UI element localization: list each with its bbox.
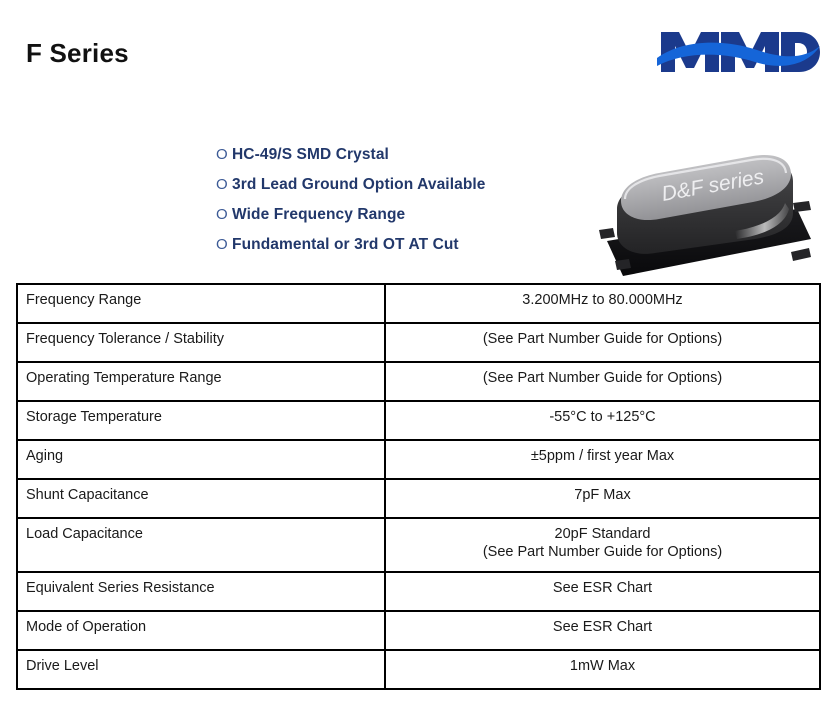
mmd-logo: [657, 24, 820, 80]
specification-table: Frequency Range 3.200MHz to 80.000MHz Fr…: [16, 283, 821, 690]
bullet-marker-icon: O: [216, 146, 232, 163]
feature-item: O Wide Frequency Range: [216, 206, 546, 236]
feature-label: Fundamental or 3rd OT AT Cut: [232, 236, 459, 254]
spec-value: 20pF Standard (See Part Number Guide for…: [385, 518, 820, 572]
spec-parameter: Shunt Capacitance: [17, 479, 385, 518]
spec-value-line: 7pF Max: [394, 486, 811, 504]
spec-parameter: Equivalent Series Resistance: [17, 572, 385, 611]
spec-value-line: (See Part Number Guide for Options): [394, 543, 811, 561]
spec-value-line: (See Part Number Guide for Options): [394, 330, 811, 348]
table-row: Drive Level 1mW Max: [17, 650, 820, 689]
spec-value-line: -55°C to +125°C: [394, 408, 811, 426]
hc49s-smd-crystal-photo: D&F series: [585, 135, 825, 280]
feature-item: O 3rd Lead Ground Option Available: [216, 176, 546, 206]
feature-label: 3rd Lead Ground Option Available: [232, 176, 486, 194]
spec-parameter: Aging: [17, 440, 385, 479]
bullet-marker-icon: O: [216, 236, 232, 253]
lead-tab: [599, 228, 615, 239]
spec-parameter: Operating Temperature Range: [17, 362, 385, 401]
table-row: Aging ±5ppm / first year Max: [17, 440, 820, 479]
spec-value-line: See ESR Chart: [394, 618, 811, 636]
spec-value: See ESR Chart: [385, 572, 820, 611]
table-row: Mode of Operation See ESR Chart: [17, 611, 820, 650]
lead-tab: [793, 201, 811, 212]
table-row: Frequency Tolerance / Stability (See Par…: [17, 323, 820, 362]
spec-parameter: Frequency Tolerance / Stability: [17, 323, 385, 362]
spec-parameter: Drive Level: [17, 650, 385, 689]
spec-value: See ESR Chart: [385, 611, 820, 650]
spec-value-line: 20pF Standard: [394, 525, 811, 543]
feature-label: Wide Frequency Range: [232, 206, 405, 224]
feature-item: O HC-49/S SMD Crystal: [216, 146, 546, 176]
table-row: Frequency Range 3.200MHz to 80.000MHz: [17, 284, 820, 323]
table-row: Shunt Capacitance 7pF Max: [17, 479, 820, 518]
spec-value-line: (See Part Number Guide for Options): [394, 369, 811, 387]
table-row: Operating Temperature Range (See Part Nu…: [17, 362, 820, 401]
spec-value: (See Part Number Guide for Options): [385, 362, 820, 401]
lead-tab: [791, 248, 811, 261]
bullet-marker-icon: O: [216, 176, 232, 193]
spec-value-line: ±5ppm / first year Max: [394, 447, 811, 465]
spec-parameter: Storage Temperature: [17, 401, 385, 440]
feature-label: HC-49/S SMD Crystal: [232, 146, 389, 164]
spec-value: -55°C to +125°C: [385, 401, 820, 440]
spec-parameter: Mode of Operation: [17, 611, 385, 650]
spec-value-line: 1mW Max: [394, 657, 811, 675]
feature-list: O HC-49/S SMD Crystal O 3rd Lead Ground …: [216, 146, 546, 266]
spec-parameter: Load Capacitance: [17, 518, 385, 572]
spec-value: 1mW Max: [385, 650, 820, 689]
page-title: F Series: [26, 38, 129, 69]
bullet-marker-icon: O: [216, 206, 232, 223]
spec-value: 7pF Max: [385, 479, 820, 518]
table-row: Equivalent Series Resistance See ESR Cha…: [17, 572, 820, 611]
feature-item: O Fundamental or 3rd OT AT Cut: [216, 236, 546, 266]
spec-value: (See Part Number Guide for Options): [385, 323, 820, 362]
table-row: Storage Temperature -55°C to +125°C: [17, 401, 820, 440]
spec-value-line: See ESR Chart: [394, 579, 811, 597]
table-row: Load Capacitance 20pF Standard (See Part…: [17, 518, 820, 572]
spec-value-line: 3.200MHz to 80.000MHz: [394, 291, 811, 309]
spec-parameter: Frequency Range: [17, 284, 385, 323]
spec-value: 3.200MHz to 80.000MHz: [385, 284, 820, 323]
spec-value: ±5ppm / first year Max: [385, 440, 820, 479]
